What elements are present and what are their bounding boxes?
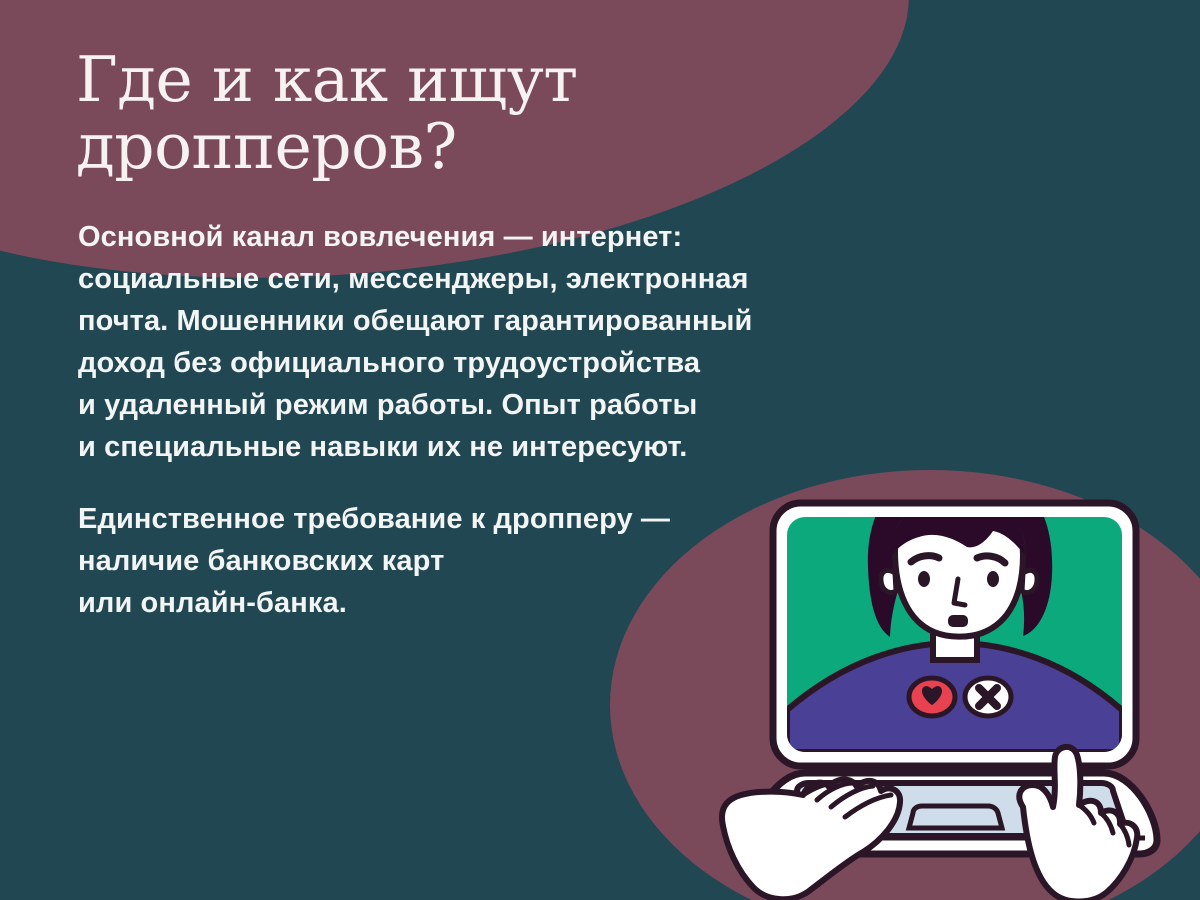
close-badge-icon[interactable] <box>965 678 1011 716</box>
person-eye-right <box>987 571 999 587</box>
person-mouth <box>948 615 968 627</box>
person-eye-left <box>918 571 930 587</box>
slide-root: Где и как ищут дропперов? Основной канал… <box>0 0 1200 900</box>
page-title: Где и как ищут дропперов? <box>76 46 816 181</box>
heart-badge-icon[interactable] <box>909 678 955 716</box>
illustration-svg <box>705 455 1200 900</box>
trackpad[interactable] <box>909 806 1002 828</box>
left-hand <box>722 780 900 900</box>
paragraph-1: Основной канал вовлечения — интернет: со… <box>78 216 1038 468</box>
person-at-laptop-illustration <box>705 455 1200 900</box>
person-ear-right <box>1022 570 1037 592</box>
person-ear-left <box>881 570 896 592</box>
